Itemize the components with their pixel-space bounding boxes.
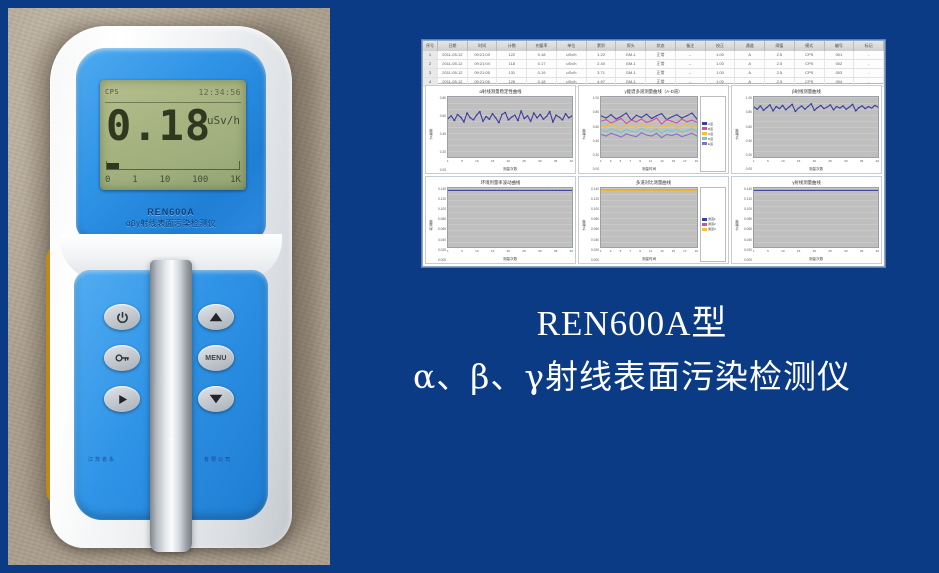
chart-y-tick: 0.060: [586, 227, 599, 231]
chart-x-ticks: 1510152025303540: [753, 158, 879, 166]
triangle-up-icon: [209, 311, 223, 323]
legend-color-swatch: [702, 223, 707, 226]
headline-block: REN600A型 α、β、γ射线表面污染检测仪: [332, 300, 932, 406]
chart-y-tick: 0.60: [586, 125, 599, 129]
chart-y-tick: 0.20: [586, 153, 599, 157]
table-column-header: 序号: [423, 41, 438, 51]
table-cell: 1: [423, 51, 438, 59]
chart-x-tick: 17: [683, 249, 686, 256]
lcd-scale-labels: 0 1 10 100 1K: [105, 175, 241, 188]
chart-x-tick: 5: [620, 159, 622, 166]
chart-x-tick: 5: [620, 249, 622, 256]
table-cell: 0.17: [527, 60, 557, 68]
chart-x-tick: 25: [828, 159, 831, 166]
legend-label: A道: [708, 122, 713, 126]
chart-x-tick: 30: [844, 249, 847, 256]
device-brand-plate: REN600A αβγ射线表面污染检测仪: [76, 198, 266, 238]
chart-x-tick: 7: [629, 249, 631, 256]
table-cell: 2011-05-12: [438, 60, 468, 68]
chart-y-ticks: 0.1400.1200.1000.0800.0600.0400.0200.000: [739, 187, 753, 263]
chart-body: 计数率0.1400.1200.1000.0800.0600.0400.0200.…: [732, 186, 881, 264]
table-column-header: 计数: [497, 41, 527, 51]
legend-label: B道: [708, 127, 713, 131]
up-button[interactable]: [198, 304, 234, 330]
chart-x-tick: 30: [538, 249, 541, 256]
backlight-button[interactable]: [104, 345, 140, 371]
table-column-header: 备注: [676, 41, 706, 51]
power-icon: [116, 311, 129, 324]
chart-y-tick: 0.40: [433, 132, 446, 136]
chart-x-tick: 5: [767, 249, 769, 256]
table-body: 12011-05-1209:21:031220.18uSv/h1.22GM-1正…: [423, 51, 884, 87]
device-footnote-left: 江苏省永: [88, 456, 116, 463]
chart-x-tick: 1: [600, 159, 602, 166]
table-row[interactable]: 22011-05-1209:21:041180.17uSv/h2.40GM-1正…: [423, 60, 884, 69]
table-cell: 118: [497, 60, 527, 68]
slide-canvas: CPS 12:34:56 0.18 uSv/h 0 1 10 100 1K RE…: [0, 0, 939, 573]
table-column-header: 校正: [706, 41, 736, 51]
chart-y-tick: 1.00: [586, 96, 599, 100]
chart-title: 多道对比测量曲线: [579, 177, 728, 186]
table-column-header: 探头: [616, 41, 646, 51]
lcd-scale-tick: 0: [105, 175, 110, 188]
chart-x-tick: 35: [554, 159, 557, 166]
chart-y-tick: 1.00: [739, 96, 752, 100]
table-cell: 1.00: [706, 51, 736, 59]
table-cell: A: [735, 69, 765, 77]
menu-button[interactable]: MENU: [198, 345, 234, 371]
chart-x-ticks: 1510152025303540: [753, 248, 879, 256]
chart-x-tick: 15: [491, 159, 494, 166]
table-column-header: 日期: [438, 41, 468, 51]
table-column-header: 时间: [468, 41, 498, 51]
chart-x-tick: 3: [610, 249, 612, 256]
table-column-header: 通道: [735, 41, 765, 51]
table-cell: uSv/h: [557, 69, 587, 77]
chart-x-tick: 1: [753, 159, 755, 166]
legend-label: C道: [708, 132, 713, 136]
table-cell: --: [676, 69, 706, 77]
device-description-text: αβγ射线表面污染检测仪: [126, 218, 216, 229]
lcd-reading-unit: uSv/h: [207, 114, 240, 127]
chart-x-tick: 1: [447, 159, 449, 166]
chart-y-ticks: 0.1400.1200.1000.0800.0600.0400.0200.000: [586, 187, 600, 263]
table-cell: CPS: [795, 51, 825, 59]
table-column-header: 单位: [557, 41, 587, 51]
chart-x-tick: 5: [767, 159, 769, 166]
chart-x-tick: 19: [695, 249, 698, 256]
legend-label: 通道3: [708, 227, 716, 231]
chart-y-ticks: 0.1400.1200.1000.0800.0600.0400.0200.000: [433, 187, 447, 263]
chart-y-tick: 0.080: [586, 217, 599, 221]
chart-x-tick: 1: [600, 249, 602, 256]
table-row[interactable]: 32011-05-1209:21:051310.19uSv/h3.71GM-1正…: [423, 69, 884, 78]
chart-y-tick: 0.040: [433, 238, 446, 242]
chart-x-tick: 20: [813, 159, 816, 166]
lcd-mode-indicator: CPS: [105, 88, 119, 96]
table-cell: 131: [497, 69, 527, 77]
page-subtitle: α、β、γ射线表面污染检测仪: [332, 348, 932, 406]
legend-color-swatch: [702, 228, 707, 231]
table-cell: 2.40: [587, 60, 617, 68]
chart-plot-wrapper: 1510152025303540测量次数: [753, 96, 879, 172]
chart-y-axis-label: 计数率: [733, 96, 739, 172]
chart-body: 剂量率0.1400.1200.1000.0800.0600.0400.0200.…: [426, 186, 575, 264]
chart-x-tick: 20: [507, 249, 510, 256]
table-cell: CPS: [795, 69, 825, 77]
chart-y-ticks: 1.000.800.600.400.200.00: [586, 96, 600, 172]
table-cell: --: [676, 51, 706, 59]
chart-x-tick: 40: [570, 159, 573, 166]
chart-x-tick: 13: [660, 159, 663, 166]
chart-y-tick: 0.60: [433, 114, 446, 118]
chart-body: 计数率1.000.800.600.400.200.001510152025303…: [732, 95, 881, 173]
chart-title: γ射线测量曲线: [732, 177, 881, 186]
chart-title: 环境剂量率波动曲线: [426, 177, 575, 186]
menu-button-label: MENU: [205, 355, 226, 362]
legend-color-swatch: [702, 122, 707, 125]
table-cell: 3.71: [587, 69, 617, 77]
product-photo: CPS 12:34:56 0.18 uSv/h 0 1 10 100 1K RE…: [8, 8, 330, 565]
table-cell: 002: [825, 60, 855, 68]
chart-body: 计数率1.000.800.600.400.200.001357911131517…: [579, 95, 728, 173]
legend-color-swatch: [702, 218, 707, 221]
table-cell: GM-1: [616, 60, 646, 68]
chart-x-tick: 15: [672, 159, 675, 166]
lcd-bargraph-fill: [107, 163, 119, 169]
table-header-row: 序号日期时间计数剂量率单位累积探头状态备注校正通道阈值模式编号标记: [423, 41, 884, 51]
chart-y-tick: 0.000: [586, 258, 599, 262]
table-cell: -: [854, 69, 884, 77]
chart-plot-wrapper: 135791113151719测量时间: [600, 96, 698, 172]
table-cell: 2.5: [765, 51, 795, 59]
chart-x-tick: 10: [781, 159, 784, 166]
key-icon: [115, 352, 130, 364]
legend-label: E道: [708, 142, 713, 146]
device-handle-strip: [150, 260, 192, 552]
chart-x-tick: 15: [491, 249, 494, 256]
chart-x-tick: 40: [570, 249, 573, 256]
chart-x-tick: 13: [660, 249, 663, 256]
chart-legend-item: 通道2: [702, 222, 724, 226]
chart-y-tick: 0.040: [586, 238, 599, 242]
table-cell: 2: [423, 60, 438, 68]
chart-y-tick: 0.80: [433, 96, 446, 100]
chart-y-tick: 0.120: [586, 197, 599, 201]
chart-y-axis-label: 剂量率: [427, 187, 433, 263]
device-model-text: REN600A: [147, 207, 195, 217]
chart-title: α射线测量稳定性曲线: [426, 86, 575, 95]
table-cell: GM-1: [616, 51, 646, 59]
chart-y-tick: 0.060: [739, 227, 752, 231]
measurement-data-table: 序号日期时间计数剂量率单位累积探头状态备注校正通道阈值模式编号标记 12011-…: [423, 41, 884, 84]
chart-y-tick: 0.80: [739, 110, 752, 114]
chart-dose-fluctuation: 环境剂量率波动曲线剂量率0.1400.1200.1000.0800.0600.0…: [425, 176, 576, 265]
power-button[interactable]: [104, 304, 140, 330]
table-cell: 09:21:03: [468, 51, 498, 59]
chart-x-axis-label: 测量次数: [447, 256, 573, 262]
chart-y-tick: 0.40: [586, 139, 599, 143]
software-screenshot-panel: 序号日期时间计数剂量率单位累积探头状态备注校正通道阈值模式编号标记 12011-…: [422, 40, 885, 267]
chart-plot-area: [447, 96, 573, 158]
table-cell: GM-1: [616, 69, 646, 77]
table-cell: 3: [423, 69, 438, 77]
table-column-header: 状态: [646, 41, 676, 51]
chart-x-tick: 40: [876, 159, 879, 166]
chart-y-axis-label: 计数率: [580, 187, 586, 263]
lcd-clock: 12:34:56: [198, 88, 241, 97]
legend-label: 通道1: [708, 217, 716, 221]
chart-y-tick: 0.00: [433, 168, 446, 172]
table-cell: A: [735, 51, 765, 59]
chart-x-axis-label: 测量时间: [600, 166, 698, 172]
table-cell: 001: [825, 51, 855, 59]
chart-y-tick: 0.00: [739, 167, 752, 171]
chart-y-tick: 0.040: [739, 238, 752, 242]
chart-y-axis-label: 计数率: [427, 96, 433, 172]
chart-plot-area: [447, 187, 573, 249]
chart-y-tick: 0.120: [433, 197, 446, 201]
lcd-scale-tick: 1: [132, 175, 137, 188]
chart-x-tick: 15: [797, 159, 800, 166]
chart-x-tick: 11: [649, 249, 652, 256]
chart-x-axis-label: 测量次数: [753, 166, 879, 172]
chart-x-tick: 20: [507, 159, 510, 166]
lcd-status-row: CPS 12:34:56: [105, 84, 241, 100]
chart-x-tick: 10: [475, 249, 478, 256]
table-cell: -: [854, 60, 884, 68]
chart-x-ticks: 135791113151719: [600, 248, 698, 256]
chart-x-tick: 25: [522, 159, 525, 166]
chart-title: β射线测量曲线: [732, 86, 881, 95]
chart-x-tick: 9: [639, 159, 641, 166]
legend-label: D道: [708, 137, 713, 141]
chart-y-tick: 0.100: [433, 207, 446, 211]
chart-legend-item: C道: [702, 132, 724, 136]
table-cell: 0.18: [527, 51, 557, 59]
chart-x-tick: 15: [797, 249, 800, 256]
chart-y-tick: 0.140: [739, 187, 752, 191]
legend-label: 通道2: [708, 222, 716, 226]
chart-x-ticks: 135791113151719: [600, 158, 698, 166]
chart-y-tick: 0.020: [433, 248, 446, 252]
chart-x-ticks: 1510152025303540: [447, 158, 573, 166]
chart-y-tick: 0.000: [739, 258, 752, 262]
table-column-header: 阈值: [765, 41, 795, 51]
chart-legend-item: E道: [702, 142, 724, 146]
legend-color-swatch: [702, 142, 707, 145]
triangle-down-icon: [209, 393, 223, 405]
chart-y-axis-label: 计数率: [580, 96, 586, 172]
chart-y-tick: 0.140: [433, 187, 446, 191]
table-cell: 09:21:05: [468, 69, 498, 77]
chart-x-tick: 20: [813, 249, 816, 256]
chart-x-tick: 10: [781, 249, 784, 256]
chart-legend-item: B道: [702, 127, 724, 131]
legend-color-swatch: [702, 137, 707, 140]
chart-x-tick: 35: [860, 249, 863, 256]
chart-y-tick: 0.20: [433, 150, 446, 154]
down-button[interactable]: [198, 386, 234, 412]
lcd-scale-tick: 10: [159, 175, 170, 188]
lcd-scale-tick: 100: [192, 175, 208, 188]
table-cell: --: [676, 60, 706, 68]
table-cell: -: [854, 51, 884, 59]
table-cell: 122: [497, 51, 527, 59]
chart-alpha-stability: α射线测量稳定性曲线计数率0.800.600.400.200.001510152…: [425, 85, 576, 174]
chart-x-tick: 15: [672, 249, 675, 256]
chart-plot-area: [753, 96, 879, 158]
table-cell: uSv/h: [557, 51, 587, 59]
table-cell: 2.5: [765, 60, 795, 68]
table-cell: uSv/h: [557, 60, 587, 68]
chart-y-tick: 0.080: [739, 217, 752, 221]
chart-y-ticks: 1.000.800.600.400.200.00: [739, 96, 753, 172]
chart-legend: 通道1通道2通道3: [700, 187, 726, 263]
chart-x-tick: 19: [695, 159, 698, 166]
chart-y-ticks: 0.800.600.400.200.00: [433, 96, 447, 172]
chart-x-tick: 5: [461, 249, 463, 256]
table-column-header: 编号: [825, 41, 855, 51]
chart-x-tick: 10: [475, 159, 478, 166]
lcd-bargraph: [106, 161, 240, 170]
table-column-header: 累积: [587, 41, 617, 51]
table-cell: 003: [825, 69, 855, 77]
table-cell: 2.5: [765, 69, 795, 77]
chart-x-axis-label: 测量次数: [753, 256, 879, 262]
table-cell: 正常: [646, 60, 676, 68]
chart-x-tick: 5: [461, 159, 463, 166]
chart-legend-item: D道: [702, 137, 724, 141]
chart-x-tick: 9: [639, 249, 641, 256]
chart-y-tick: 0.40: [739, 139, 752, 143]
chart-grid: α射线测量稳定性曲线计数率0.800.600.400.200.001510152…: [425, 85, 882, 264]
chart-legend-item: A道: [702, 122, 724, 126]
chart-x-tick: 40: [876, 249, 879, 256]
chart-x-tick: 25: [828, 249, 831, 256]
chart-x-tick: 11: [649, 159, 652, 166]
chart-y-tick: 0.000: [433, 258, 446, 262]
lcd-screen: CPS 12:34:56 0.18 uSv/h 0 1 10 100 1K: [100, 80, 246, 190]
chart-y-tick: 0.00: [586, 167, 599, 171]
table-cell: 2011-05-12: [438, 51, 468, 59]
chart-y-tick: 0.020: [586, 248, 599, 252]
page-title: REN600A型: [332, 300, 932, 348]
chart-x-tick: 1: [753, 249, 755, 256]
table-cell: 正常: [646, 51, 676, 59]
chart-x-tick: 35: [860, 159, 863, 166]
chart-y-tick: 0.080: [433, 217, 446, 221]
chart-x-tick: 25: [522, 249, 525, 256]
chart-legend: A道B道C道D道E道: [700, 96, 726, 172]
legend-color-swatch: [702, 132, 707, 135]
chart-plot-wrapper: 1510152025303540测量次数: [753, 187, 879, 263]
chart-x-tick: 1: [447, 249, 449, 256]
table-cell: 正常: [646, 69, 676, 77]
chart-title: γ能谱多道测量曲线（A-D道）: [579, 86, 728, 95]
chart-y-tick: 0.020: [739, 248, 752, 252]
play-button[interactable]: [104, 386, 140, 412]
legend-color-swatch: [702, 127, 707, 130]
chart-y-tick: 0.140: [586, 187, 599, 191]
chart-y-tick: 0.60: [739, 125, 752, 129]
chart-gamma-trend: γ射线测量曲线计数率0.1400.1200.1000.0800.0600.040…: [731, 176, 882, 265]
chart-y-axis-label: 计数率: [733, 187, 739, 263]
chart-plot-area: [600, 96, 698, 158]
table-column-header: 模式: [795, 41, 825, 51]
lcd-reading-value: 0.18: [106, 104, 211, 148]
chart-legend-item: 通道1: [702, 217, 724, 221]
chart-x-tick: 17: [683, 159, 686, 166]
chart-body: 计数率0.800.600.400.200.001510152025303540测…: [426, 95, 575, 173]
chart-x-axis-label: 测量次数: [447, 166, 573, 172]
chart-legend-item: 通道3: [702, 227, 724, 231]
table-column-header: 剂量率: [527, 41, 557, 51]
chart-multi-energy: γ能谱多道测量曲线（A-D道）计数率1.000.800.600.400.200.…: [578, 85, 729, 174]
chart-plot-area: [753, 187, 879, 249]
table-cell: CPS: [795, 60, 825, 68]
chart-x-tick: 7: [629, 159, 631, 166]
chart-y-tick: 0.20: [739, 153, 752, 157]
table-column-header: 标记: [854, 41, 884, 51]
chart-y-tick: 0.120: [739, 197, 752, 201]
chart-x-ticks: 1510152025303540: [447, 248, 573, 256]
table-cell: 2011-05-12: [438, 69, 468, 77]
table-cell: 1.22: [587, 51, 617, 59]
chart-x-tick: 3: [610, 159, 612, 166]
chart-y-tick: 0.060: [433, 227, 446, 231]
chart-plot-wrapper: 1510152025303540测量次数: [447, 96, 573, 172]
table-cell: 09:21:04: [468, 60, 498, 68]
table-cell: 1.00: [706, 60, 736, 68]
chart-x-tick: 35: [554, 249, 557, 256]
chart-plot-area: [600, 187, 698, 249]
lcd-scale-tick: 1K: [230, 175, 241, 188]
chart-plot-wrapper: 135791113151719测量时间: [600, 187, 698, 263]
chart-y-tick: 0.80: [586, 110, 599, 114]
chart-body: 计数率0.1400.1200.1000.0800.0600.0400.0200.…: [579, 186, 728, 264]
table-cell: 0.19: [527, 69, 557, 77]
table-cell: A: [735, 60, 765, 68]
chart-y-tick: 0.100: [586, 207, 599, 211]
device-footnote-right: 有限公司: [204, 456, 232, 463]
chart-plot-wrapper: 1510152025303540测量次数: [447, 187, 573, 263]
chart-x-axis-label: 测量时间: [600, 256, 698, 262]
table-cell: 1.00: [706, 69, 736, 77]
chart-x-tick: 30: [538, 159, 541, 166]
chart-multi-channel-compare: 多道对比测量曲线计数率0.1400.1200.1000.0800.0600.04…: [578, 176, 729, 265]
handle-screw-dot: [170, 438, 173, 441]
chart-beta-stability: β射线测量曲线计数率1.000.800.600.400.200.00151015…: [731, 85, 882, 174]
table-row[interactable]: 12011-05-1209:21:031220.18uSv/h1.22GM-1正…: [423, 51, 884, 60]
chart-y-tick: 0.100: [739, 207, 752, 211]
play-icon: [116, 393, 129, 406]
chart-x-tick: 30: [844, 159, 847, 166]
